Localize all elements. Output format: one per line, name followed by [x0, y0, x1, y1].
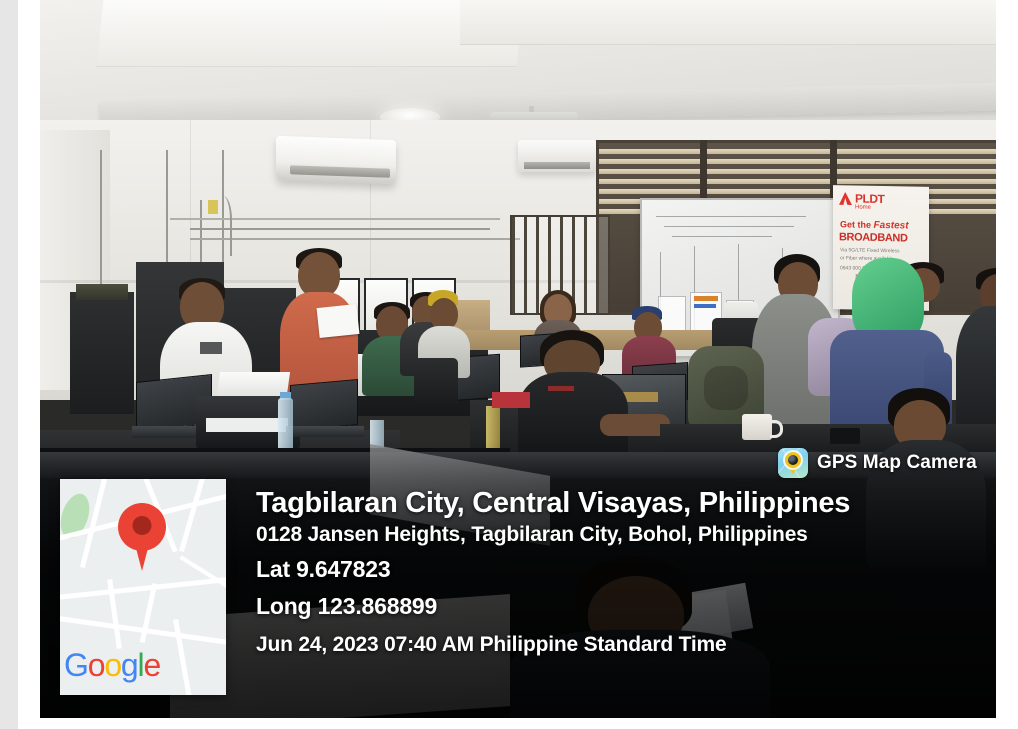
cable-tag [208, 200, 218, 214]
map-pin-hole [133, 516, 152, 535]
pldt-swoosh-icon [839, 192, 852, 205]
water-bottle [278, 398, 293, 450]
paper-sheet [317, 304, 360, 338]
shirt-print [200, 342, 222, 354]
google-logo-g2: g [121, 647, 138, 683]
location-latitude: Lat 9.647823 [256, 554, 996, 585]
printer-output-paper [206, 418, 288, 432]
office-chair [414, 358, 458, 410]
location-title: Tagbilaran City, Central Visayas, Philip… [256, 487, 996, 519]
laptop-screen [290, 379, 358, 431]
gps-map-camera-badge: GPS Map Camera [778, 448, 977, 478]
google-logo-o2: o [104, 647, 121, 683]
pldt-sub-brand: Home [855, 205, 871, 211]
ceiling-panel [460, 0, 996, 45]
coffee-mug [742, 414, 772, 440]
google-logo: Google [64, 647, 160, 684]
person-body [956, 306, 996, 436]
location-address: 0128 Jansen Heights, Tagbilaran City, Bo… [256, 522, 996, 547]
location-longitude: Long 123.868899 [256, 591, 996, 622]
map-road [173, 619, 192, 695]
google-logo-e: e [143, 647, 160, 683]
banner-line1-emphasis: Fastest [874, 220, 909, 232]
icon-camera-lens [788, 455, 798, 465]
map-road [60, 575, 226, 601]
banner-fineprint-1: Via 5G/LTE Fixed Wireless [840, 247, 900, 254]
map-thumbnail[interactable]: Google [60, 479, 226, 695]
screenshot-page: PLDT Home Get the Fastest BROADBAND Via … [0, 0, 1018, 729]
capture-datetime: Jun 24, 2023 07:40 AM Philippine Standar… [256, 631, 996, 658]
google-logo-g1: G [64, 647, 88, 683]
air-conditioner-vent [524, 162, 590, 169]
google-logo-o1: o [88, 647, 105, 683]
mobile-phone [830, 428, 860, 444]
gps-camera-photo: PLDT Home Get the Fastest BROADBAND Via … [40, 0, 996, 718]
server-rack [70, 292, 134, 414]
banner-line-1: Get the Fastest [840, 219, 909, 231]
laptop-base [286, 426, 364, 437]
wall-cable-run [190, 238, 520, 240]
red-box [492, 392, 530, 408]
gps-overlay-text-block: Tagbilaran City, Central Visayas, Philip… [256, 487, 996, 658]
gps-map-camera-label: GPS Map Camera [817, 452, 977, 474]
map-road [179, 479, 206, 552]
banner-line-2: BROADBAND [839, 231, 908, 244]
shirt-stripe [548, 386, 574, 391]
map-location-pin [118, 503, 166, 551]
gps-map-camera-icon [778, 448, 808, 478]
rack-equipment [76, 284, 128, 300]
water-bottle [486, 406, 500, 450]
banner-line1-prefix: Get the [840, 219, 871, 230]
wall-cable-run [190, 228, 490, 230]
backpack-pocket [704, 366, 748, 410]
